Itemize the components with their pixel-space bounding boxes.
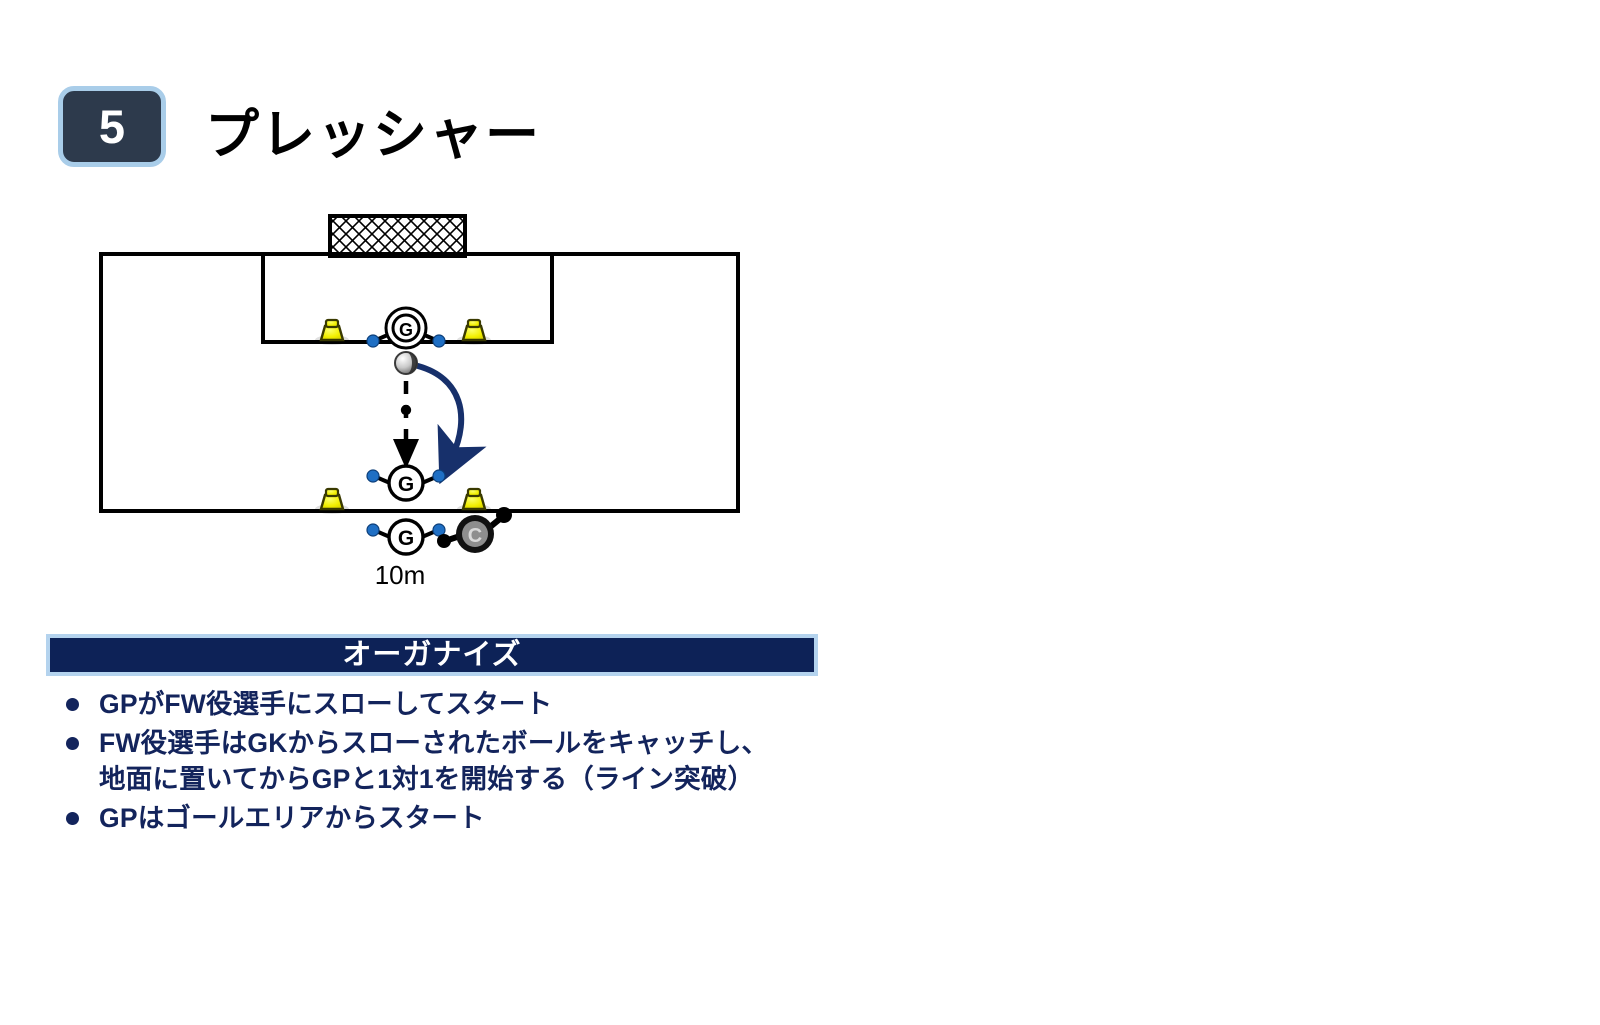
slide-header: 5 プレッシャー (0, 0, 1600, 190)
organize-heading-label: オーガナイズ (342, 641, 521, 670)
player-marker-gk: G (367, 308, 445, 348)
list-item: FW役選手はGKからスローされたボールをキャッチし、 地面に置いてからGPと1対… (52, 725, 872, 798)
goal-net (330, 216, 465, 256)
player-marker-field: G (367, 466, 445, 500)
bullet-dot-icon (66, 737, 79, 750)
coach-marker-label: C (468, 525, 482, 547)
ball-pass-arrow (393, 381, 419, 469)
player-marker-queue: G (367, 520, 445, 554)
cone-goal-area-left (315, 320, 349, 345)
player-marker-field-label: G (398, 473, 414, 496)
list-item-text: FW役選手はGKからスローされたボールをキャッチし、 地面に置いてからGPと1対… (99, 725, 768, 798)
bullet-dot-icon (66, 812, 79, 825)
list-item-text: GPがFW役選手にスローしてスタート (99, 686, 552, 723)
list-item: GPはゴールエリアからスタート (52, 800, 872, 837)
cone-line-right (457, 489, 491, 514)
ball-icon (395, 352, 417, 374)
list-item: GPがFW役選手にスローしてスタート (52, 686, 872, 723)
player-marker-gk-label: G (399, 320, 413, 340)
list-item-text: GPはゴールエリアからスタート (99, 800, 485, 837)
player-run-arrow (418, 366, 461, 457)
step-number-badge: 5 (58, 86, 166, 167)
organize-section-header: オーガナイズ (46, 634, 818, 676)
page-title: プレッシャー (205, 90, 541, 169)
cone-line-left (315, 489, 349, 514)
bullet-dot-icon (66, 698, 79, 711)
distance-label: 10m (375, 560, 426, 590)
player-marker-queue-label: G (398, 527, 414, 550)
organize-bullet-list: GPがFW役選手にスローしてスタート FW役選手はGKからスローされたボールをキ… (52, 686, 872, 838)
cone-goal-area-right (457, 320, 491, 345)
drill-diagram: G G G (60, 195, 820, 605)
step-number-label: 5 (99, 103, 125, 150)
